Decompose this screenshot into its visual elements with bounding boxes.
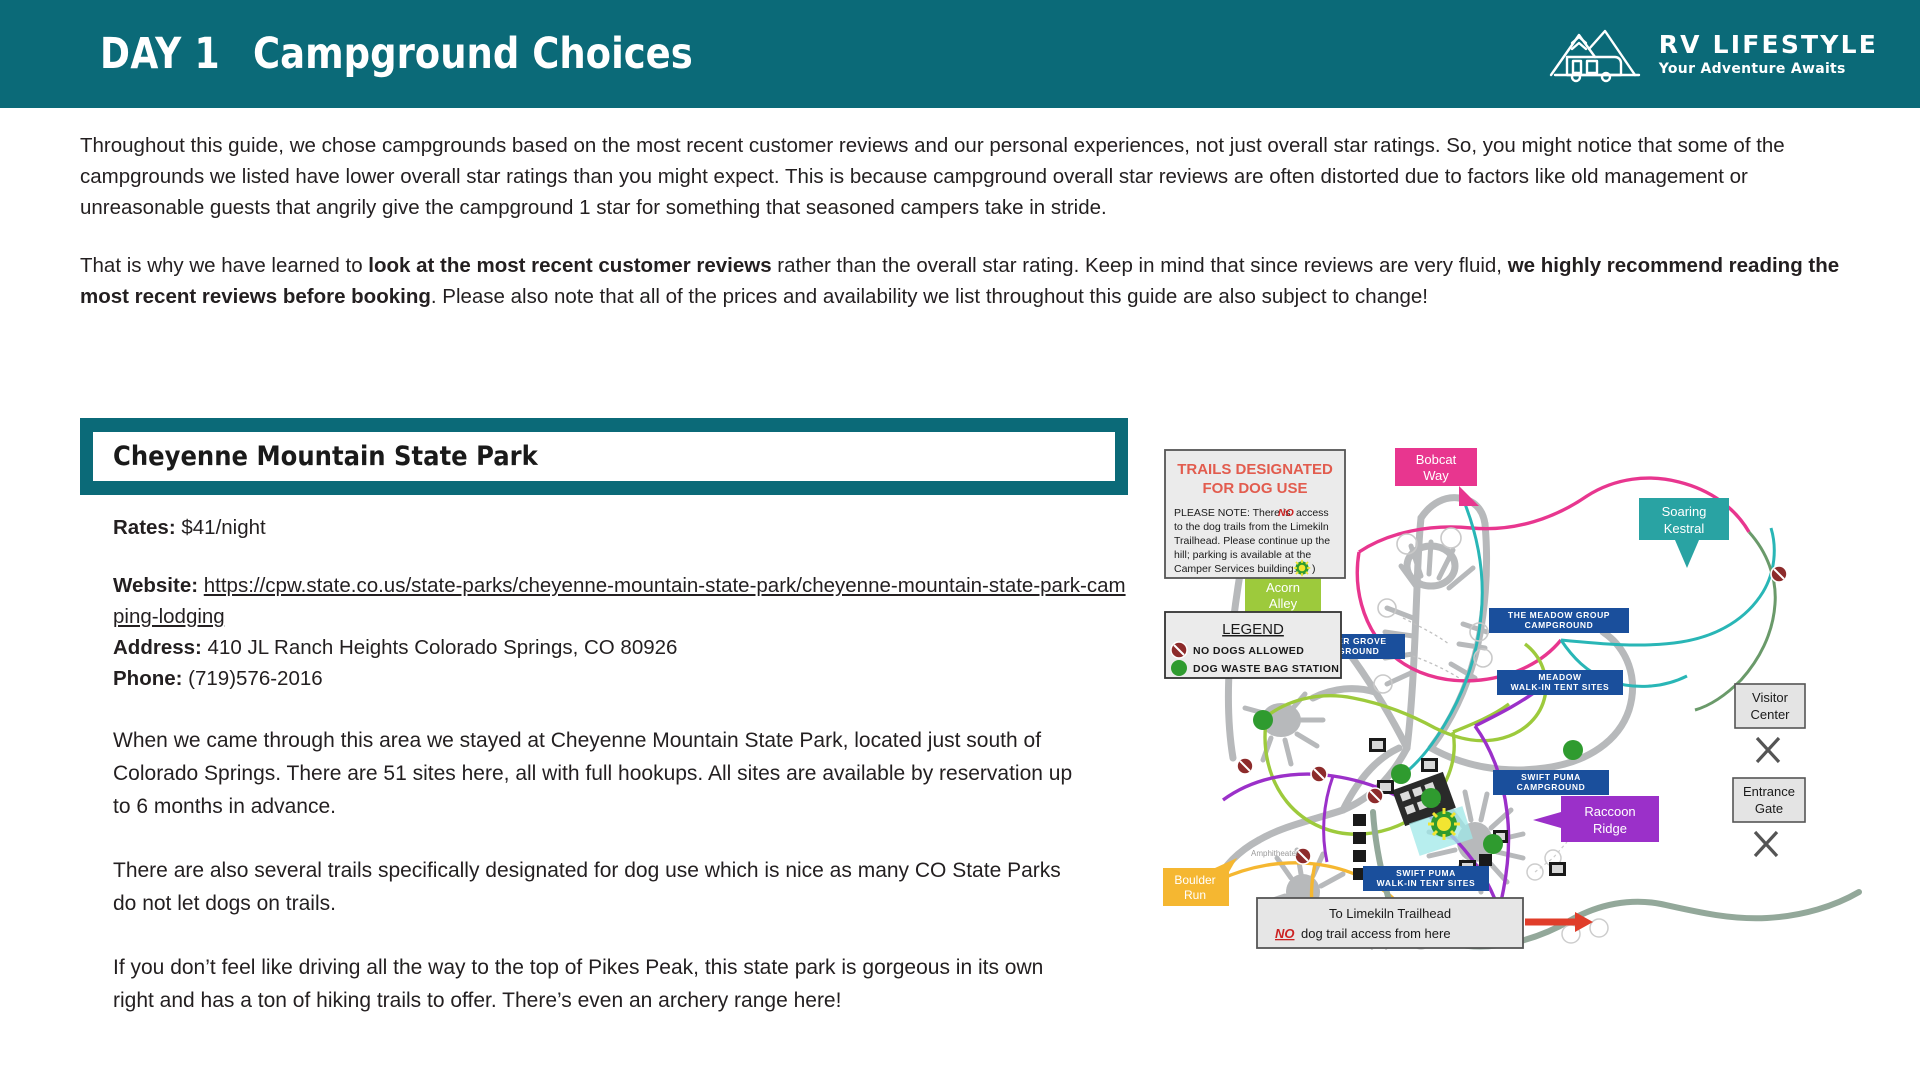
svg-text:Kestral: Kestral bbox=[1664, 521, 1705, 536]
day-label: DAY 1 bbox=[100, 29, 220, 79]
intro-paragraph-2: That is why we have learned to look at t… bbox=[80, 250, 1870, 312]
brand-logo: RV LIFESTYLE Your Adventure Awaits bbox=[1549, 25, 1920, 83]
svg-text:SWIFT PUMA: SWIFT PUMA bbox=[1396, 868, 1456, 878]
svg-text:TRAILS DESIGNATED: TRAILS DESIGNATED bbox=[1177, 461, 1333, 478]
phone-value: (719)576-2016 bbox=[182, 667, 322, 690]
svg-text:Ridge: Ridge bbox=[1593, 821, 1627, 836]
svg-text:To Limekiln Trailhead: To Limekiln Trailhead bbox=[1329, 906, 1451, 921]
svg-text:access: access bbox=[1296, 507, 1329, 519]
svg-text:SWIFT PUMA: SWIFT PUMA bbox=[1521, 772, 1581, 782]
svg-text:Trailhead. Please continue up: Trailhead. Please continue up the bbox=[1174, 535, 1330, 547]
svg-text:dog trail access from here: dog trail access from here bbox=[1301, 926, 1451, 941]
rv-mountain-icon bbox=[1549, 25, 1645, 83]
map-svg: Service road Emergency exit only Bobcat … bbox=[1163, 448, 1863, 950]
svg-text:Raccoon: Raccoon bbox=[1584, 804, 1635, 819]
rates-value: $41/night bbox=[176, 516, 266, 539]
svg-text:WALK-IN TENT SITES: WALK-IN TENT SITES bbox=[1377, 878, 1476, 888]
website-label: Website: bbox=[113, 574, 198, 597]
rates-row: Rates: $41/night bbox=[113, 512, 1135, 543]
campground-title-inner: Cheyenne Mountain State Park bbox=[93, 432, 1115, 481]
svg-text:CAMPGROUND: CAMPGROUND bbox=[1525, 620, 1594, 630]
svg-text:DOG WASTE BAG STATION: DOG WASTE BAG STATION bbox=[1193, 663, 1339, 675]
svg-text:Way: Way bbox=[1423, 468, 1449, 483]
address-value: 410 JL Ranch Heights Colorado Springs, C… bbox=[202, 636, 678, 659]
svg-text:Acorn: Acorn bbox=[1266, 580, 1300, 595]
details-spacer bbox=[113, 543, 1135, 570]
intro-p2-bold-1: look at the most recent customer reviews bbox=[368, 254, 771, 277]
brand-name: RV LIFESTYLE bbox=[1659, 32, 1878, 57]
svg-text:WALK-IN TENT SITES: WALK-IN TENT SITES bbox=[1511, 682, 1610, 692]
svg-text:THE MEADOW GROUP: THE MEADOW GROUP bbox=[1508, 610, 1610, 620]
svg-text:Bobcat: Bobcat bbox=[1416, 452, 1457, 467]
address-label: Address: bbox=[113, 636, 202, 659]
svg-text:): ) bbox=[1312, 563, 1316, 575]
svg-text:Soaring: Soaring bbox=[1662, 504, 1707, 519]
svg-text:Gate: Gate bbox=[1755, 801, 1783, 816]
phone-label: Phone: bbox=[113, 667, 182, 690]
description-paragraph-1: When we came through this area we stayed… bbox=[113, 724, 1080, 823]
svg-text:MEADOW: MEADOW bbox=[1538, 672, 1582, 682]
svg-text:NO DOGS ALLOWED: NO DOGS ALLOWED bbox=[1193, 645, 1304, 657]
campground-details: Rates: $41/night Website: https://cpw.st… bbox=[80, 512, 1135, 694]
campground-name: Cheyenne Mountain State Park bbox=[113, 441, 538, 472]
page-title: Campground Choices bbox=[253, 29, 693, 79]
intro-p2-text-2: rather than the overall star rating. Kee… bbox=[772, 254, 1508, 277]
label-swift-puma-walkin: SWIFT PUMA WALK-IN TENT SITES bbox=[1363, 866, 1489, 891]
amphitheater-label: Amphitheater bbox=[1251, 849, 1299, 858]
dog-trails-notice-box: TRAILS DESIGNATED FOR DOG USE PLEASE NOT… bbox=[1165, 450, 1345, 578]
svg-text:Center: Center bbox=[1750, 707, 1790, 722]
intro-section: Throughout this guide, we chose campgrou… bbox=[80, 130, 1870, 312]
address-row: Address: 410 JL Ranch Heights Colorado S… bbox=[113, 632, 1135, 663]
campground-map-image: Service road Emergency exit only Bobcat … bbox=[1163, 448, 1863, 950]
campground-title-box: Cheyenne Mountain State Park bbox=[80, 418, 1128, 495]
website-row: Website: https://cpw.state.co.us/state-p… bbox=[113, 570, 1135, 632]
svg-text:Alley: Alley bbox=[1269, 596, 1298, 611]
header-title-group: DAY 1 Campground Choices bbox=[0, 29, 764, 79]
svg-text:PLEASE NOTE: There is: PLEASE NOTE: There is bbox=[1174, 507, 1291, 519]
svg-text:Run: Run bbox=[1184, 888, 1206, 902]
description-paragraph-3: If you don’t feel like driving all the w… bbox=[113, 951, 1080, 1017]
legend-item-waste-station: DOG WASTE BAG STATION bbox=[1171, 660, 1339, 676]
svg-text:NO: NO bbox=[1278, 507, 1294, 519]
website-link[interactable]: https://cpw.state.co.us/state-parks/chey… bbox=[113, 574, 1126, 628]
phone-row: Phone: (719)576-2016 bbox=[113, 663, 1135, 694]
svg-text:NO: NO bbox=[1275, 926, 1295, 941]
label-meadow-walkin: MEADOW WALK-IN TENT SITES bbox=[1497, 670, 1623, 695]
svg-text:Entrance: Entrance bbox=[1743, 784, 1795, 799]
svg-text:Boulder: Boulder bbox=[1174, 873, 1215, 887]
label-the-meadow-group: THE MEADOW GROUP CAMPGROUND bbox=[1489, 608, 1629, 633]
brand-tagline: Your Adventure Awaits bbox=[1659, 62, 1878, 76]
intro-p2-text-3: . Please also note that all of the price… bbox=[431, 285, 1428, 308]
campground-section: Cheyenne Mountain State Park Rates: $41/… bbox=[80, 418, 1135, 1017]
svg-text:hill; parking is available at: hill; parking is available at the bbox=[1174, 549, 1311, 561]
svg-text:LEGEND: LEGEND bbox=[1222, 621, 1284, 638]
page-header: DAY 1 Campground Choices RV LIFESTYLE Yo… bbox=[0, 0, 1920, 108]
label-swift-puma-campground: SWIFT PUMA CAMPGROUND bbox=[1493, 770, 1609, 795]
svg-text:CAMPGROUND: CAMPGROUND bbox=[1517, 782, 1586, 792]
intro-paragraph-1: Throughout this guide, we chose campgrou… bbox=[80, 130, 1870, 223]
svg-text:to the dog trails from the Lim: to the dog trails from the Limekiln bbox=[1174, 521, 1329, 533]
description-paragraph-2: There are also several trails specifical… bbox=[113, 854, 1080, 920]
svg-text:Visitor: Visitor bbox=[1752, 690, 1789, 705]
intro-p2-text-1: That is why we have learned to bbox=[80, 254, 368, 277]
svg-text:FOR DOG USE: FOR DOG USE bbox=[1202, 480, 1307, 497]
rates-label: Rates: bbox=[113, 516, 176, 539]
campground-description: When we came through this area we stayed… bbox=[80, 724, 1080, 1017]
svg-text:Camper Services building. (: Camper Services building. ( bbox=[1174, 563, 1303, 575]
map-legend: LEGEND NO DOGS ALLOWED DOG WASTE BAG STA… bbox=[1165, 612, 1341, 678]
brand-text-group: RV LIFESTYLE Your Adventure Awaits bbox=[1659, 32, 1878, 76]
